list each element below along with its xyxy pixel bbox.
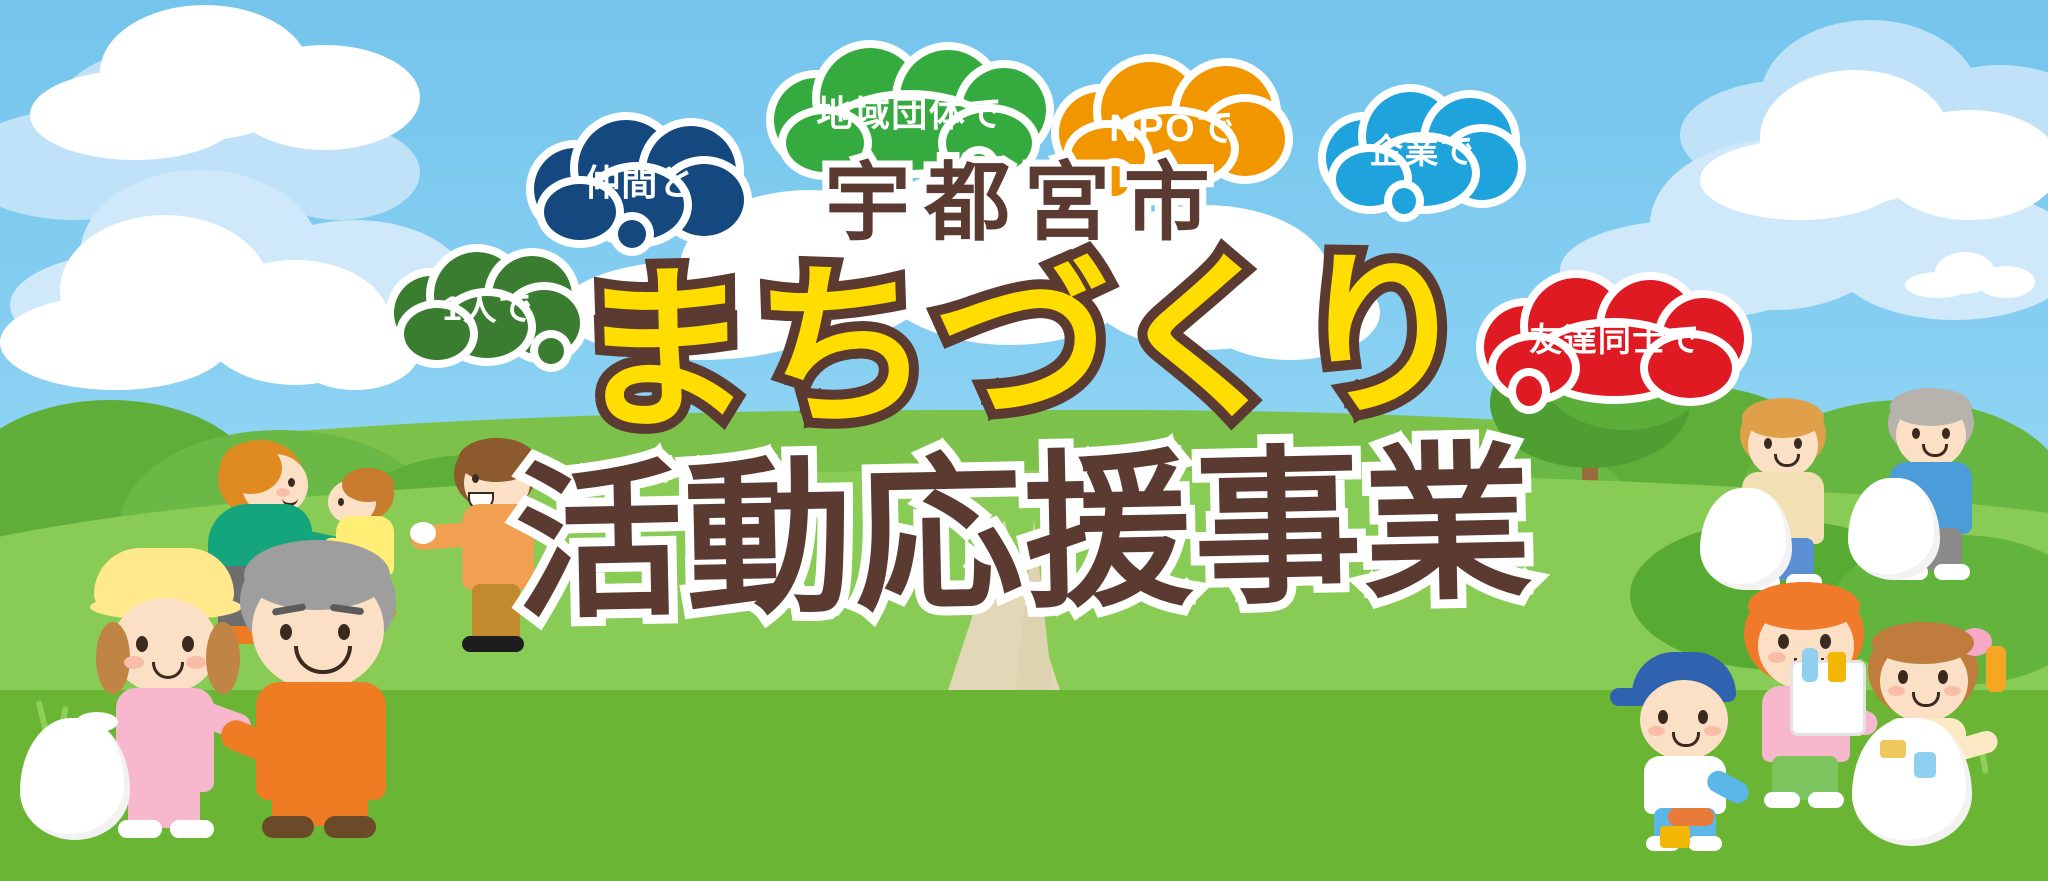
trash-item-2 — [1914, 752, 1936, 778]
shoe — [462, 636, 524, 652]
hair-top — [244, 540, 390, 610]
bubble-with-friends-label: 仲間と — [584, 154, 696, 206]
face — [1640, 680, 1728, 760]
bubble-company-label: 企業で — [1369, 124, 1475, 173]
person-elder-orange — [238, 540, 418, 840]
cheek-right — [1944, 686, 1961, 696]
banner-image: 1人で 仲間と 地域団体で — [0, 0, 2048, 881]
eye-left — [1658, 710, 1668, 724]
shoe-left — [262, 816, 314, 838]
shoe-right — [1688, 836, 1722, 851]
bubble-npo-label: NPOで — [1109, 97, 1235, 152]
hair-top — [1748, 582, 1860, 630]
hair-right — [206, 622, 240, 694]
hair-top — [1872, 622, 1974, 664]
cloud-small-right — [1905, 250, 2035, 296]
eye-right — [1820, 634, 1831, 649]
cheek — [276, 488, 290, 497]
cloud-mid-left — [0, 200, 420, 390]
can-ground — [1660, 826, 1690, 848]
bottle-in-box — [1802, 648, 1818, 682]
eye-left — [280, 624, 292, 640]
eye — [338, 498, 344, 506]
shoe-left — [1764, 792, 1800, 808]
bottle-held — [1986, 646, 2006, 692]
bubble-company[interactable]: 企業で — [1322, 92, 1522, 204]
eye-right — [182, 636, 194, 652]
bubble-one-person-label: 1人で — [443, 281, 534, 330]
cloud-right — [1700, 60, 2048, 220]
hair-front — [220, 442, 282, 494]
trash-bag-knot — [76, 712, 118, 732]
shoe-left — [118, 820, 162, 838]
eye-right — [1942, 428, 1950, 439]
bubble-local-group-label: 地域団体で — [816, 85, 1003, 137]
bubble-with-friends[interactable]: 仲間と — [530, 120, 750, 240]
bubble-friends[interactable]: 友達同士で — [1480, 278, 1750, 396]
cheek-right — [1704, 726, 1721, 736]
trash-bag-bottom-right — [1852, 718, 1972, 846]
torso — [116, 688, 214, 792]
eye-left — [1778, 634, 1789, 649]
page-title-city: 宇都宮市 — [824, 160, 1223, 246]
eye-left — [1898, 670, 1908, 684]
hair-top — [1890, 388, 1972, 426]
page-title-line2: 活動応援事業 — [513, 439, 1534, 628]
eye-left — [1912, 428, 1920, 439]
trash-bag-right-1 — [1700, 488, 1792, 590]
bottle-ground — [1668, 808, 1714, 826]
eye-left — [136, 636, 148, 652]
cheek-left — [124, 656, 144, 669]
eye-right — [338, 624, 350, 640]
eye — [472, 474, 479, 483]
eye-left — [1764, 438, 1772, 449]
hair-top — [1742, 398, 1824, 438]
shoe-right — [324, 816, 376, 838]
eye — [288, 478, 295, 487]
page-title-line1: まちづくり — [573, 246, 1475, 443]
eye-right — [1938, 670, 1948, 684]
eye-right — [1698, 710, 1708, 724]
can-in-box — [1828, 652, 1846, 682]
cloud-top-left — [30, 0, 430, 150]
shoe-right — [170, 820, 214, 838]
cheek-left — [1768, 652, 1786, 663]
shoe-right — [1934, 564, 1970, 580]
bubble-friends-label: 友達同士で — [1529, 313, 1701, 361]
shoe-right — [1808, 792, 1844, 808]
hair-top — [342, 468, 394, 502]
trash-bag-left — [20, 718, 130, 840]
cheek-left — [1648, 726, 1665, 736]
bubble-one-person[interactable]: 1人で — [388, 250, 588, 360]
trash-bag-right-2 — [1848, 478, 1940, 580]
cheek-right — [186, 656, 206, 669]
cheek-left — [1888, 686, 1905, 696]
trash-item-1 — [1880, 740, 1906, 758]
eye-right — [1794, 438, 1802, 449]
